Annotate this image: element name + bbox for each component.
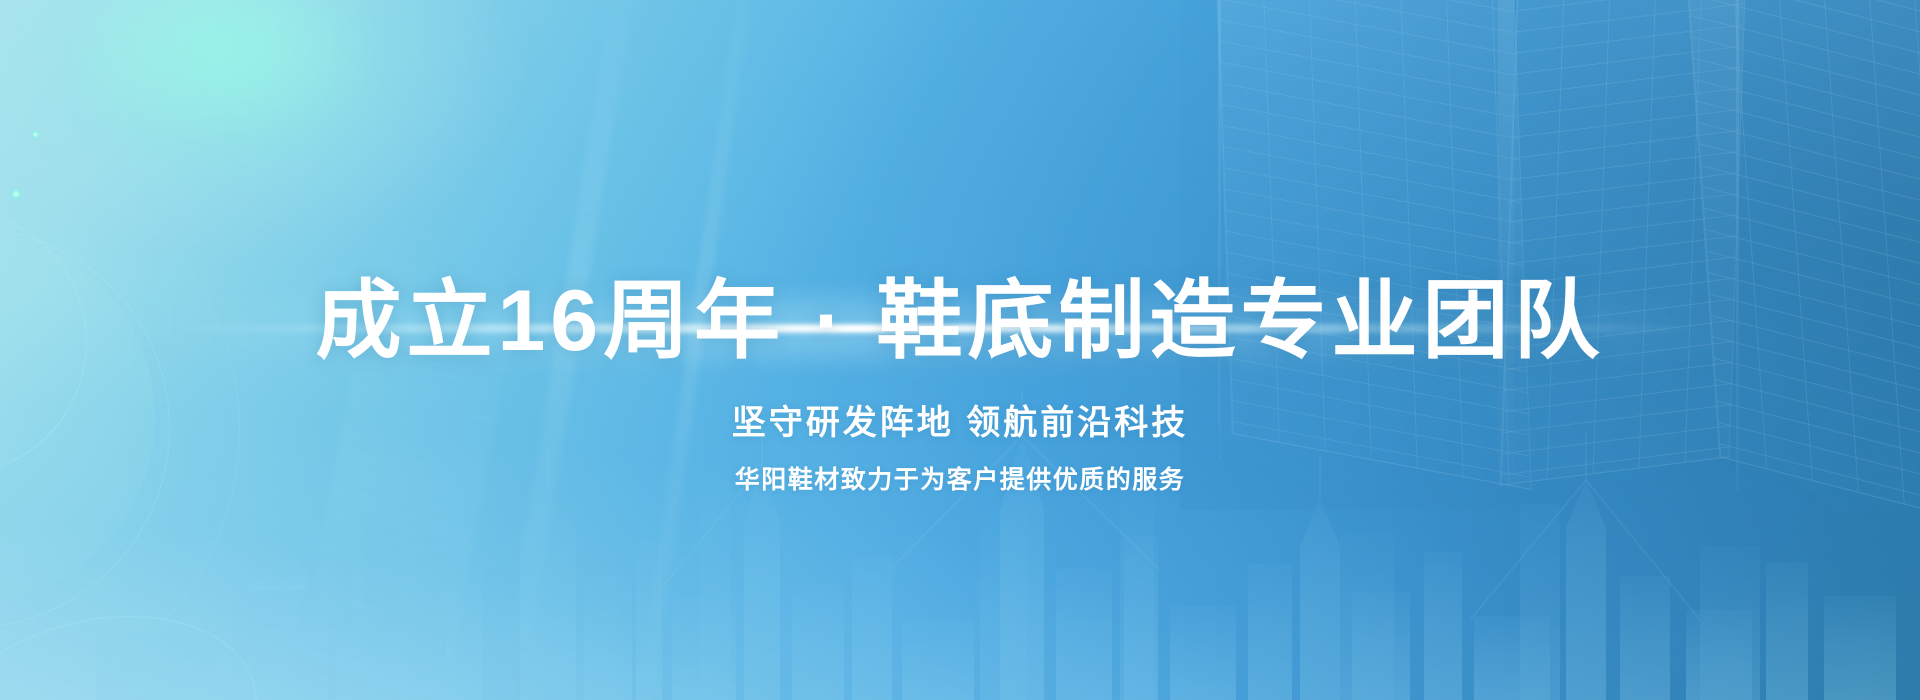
promo-banner: 成立16周年 · 鞋底制造专业团队 坚守研发阵地 领航前沿科技 华阳鞋材致力于为… (0, 0, 1920, 700)
banner-text-block: 成立16周年 · 鞋底制造专业团队 坚守研发阵地 领航前沿科技 华阳鞋材致力于为… (0, 0, 1920, 700)
banner-subline: 坚守研发阵地 领航前沿科技 (732, 406, 1188, 440)
banner-tagline: 华阳鞋材致力于为客户提供优质的服务 (735, 468, 1186, 493)
banner-headline: 成立16周年 · 鞋底制造专业团队 (315, 278, 1604, 364)
